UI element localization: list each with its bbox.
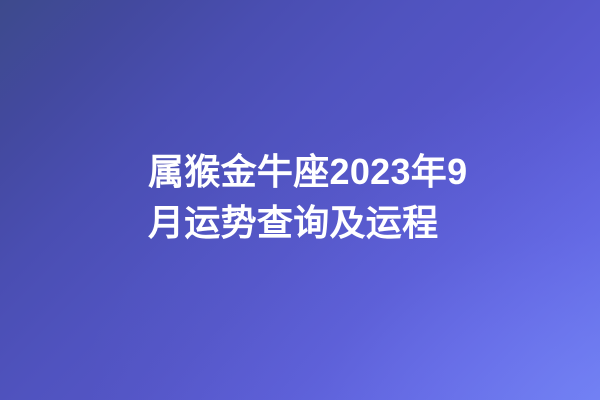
title-block: 属猴金牛座2023年9月运势查询及运程 [148,146,478,248]
banner-title: 属猴金牛座2023年9月运势查询及运程 [148,146,478,248]
title-banner: 属猴金牛座2023年9月运势查询及运程 [0,0,600,400]
